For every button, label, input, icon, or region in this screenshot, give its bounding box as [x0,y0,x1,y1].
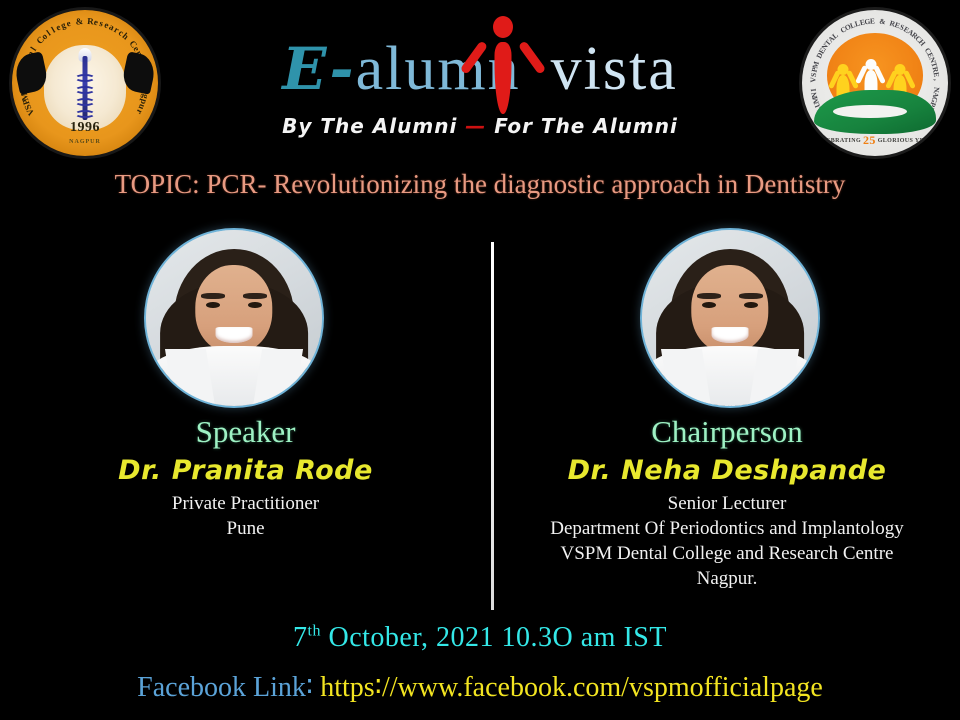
red-human-figure-icon [482,16,524,114]
header-banner: VSPM's Dental College & Research Centre,… [0,0,960,160]
detail-line: VSPM Dental College and Research Centre [494,541,960,566]
chairperson-name: Dr. Neha Deshpande [494,454,960,487]
anniversary-number: 25 [863,133,876,147]
speaker-details: Private PractitionerPune [0,491,491,541]
speaker-block: Speaker Dr. Pranita Rode Private Practit… [0,230,491,541]
detail-line: Pune [0,516,491,541]
brand-part-c: vista [551,35,678,103]
page-title: TOPIC: PCR- Revolutionizing the diagnost… [60,166,900,202]
tagline-dash: — [465,114,486,138]
tagline-right: For The Alumni [494,114,678,138]
detail-line: Private Practitioner [0,491,491,516]
caduceus-icon [72,48,98,122]
event-date-rest: October, 2021 10.3O am IST [321,622,667,653]
seal-sub-left: NAGPUR [12,139,158,145]
facebook-link-url[interactable]: https∶//www.facebook.com/vspmofficialpag… [320,672,823,703]
anniversary-prefix: CELEBRATING [813,138,861,144]
helping-hand-icon [814,90,937,134]
brand-part-a: E- [282,35,355,103]
vspm-dental-college-seal: VSPM's Dental College & Research Centre,… [12,10,158,156]
chairperson-role-label: Chairperson [494,414,960,450]
facebook-link-line[interactable]: Facebook Link∶ https∶//www.facebook.com/… [0,670,960,704]
brand-tagline: By The Alumni — For The Alumni [230,114,730,138]
seal-year-left: 1996 [12,120,158,136]
event-date-ordinal: th [308,623,321,640]
facebook-link-label: Facebook Link∶ [137,672,320,703]
brand-logo: E-alumnvista By The Alumni — For The Alu… [230,14,730,154]
avatar-chairperson [642,230,818,406]
speaker-role-label: Speaker [0,414,491,450]
chairperson-block: Chairperson Dr. Neha Deshpande Senior Le… [494,230,960,591]
anniversary-suffix: GLORIOUS YEARS [878,138,938,144]
chairperson-details: Senior LecturerDepartment Of Periodontic… [494,491,960,591]
detail-line: Department Of Periodontics and Implantol… [494,516,960,541]
detail-line: Nagpur. [494,566,960,591]
tagline-left: By The Alumni [282,114,457,138]
seal-anniversary-text: CELEBRATING 25 GLORIOUS YEARS [802,133,948,148]
speaker-name: Dr. Pranita Rode [0,454,491,487]
event-datetime: 7th October, 2021 10.3O am IST [0,622,960,654]
alumni-association-seal: ALUMNI VSPM DENTAL COLLEGE & RESEARCH CE… [802,10,948,156]
event-date-day: 7 [293,622,308,653]
avatar-speaker [146,230,322,406]
detail-line: Senior Lecturer [494,491,960,516]
